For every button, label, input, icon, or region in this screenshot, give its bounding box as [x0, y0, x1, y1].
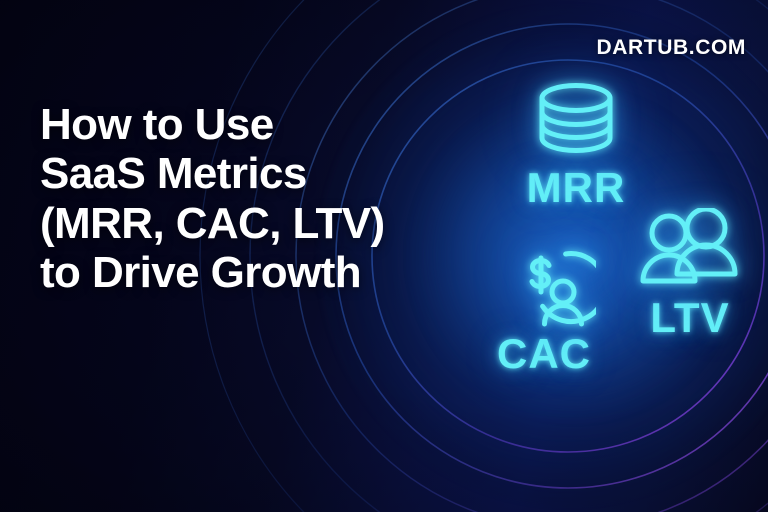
site-logo: DARTUB.COM: [597, 36, 746, 60]
poster-canvas: DARTUB.COM How to Use SaaS Metrics (MRR,…: [0, 0, 768, 512]
metric-ltv: LTV: [614, 208, 766, 339]
title-line-2: SaaS Metrics: [40, 149, 430, 198]
title-line-4: to Drive Growth: [40, 248, 430, 297]
title-line-1: How to Use: [40, 100, 430, 149]
title-line-3: (MRR, CAC, LTV): [40, 199, 430, 248]
metric-ltv-label: LTV: [614, 297, 766, 339]
metric-cac-label: CAC: [466, 333, 622, 375]
metric-mrr-label: MRR: [496, 167, 656, 209]
metric-cac: CAC: [466, 234, 622, 375]
database-stack-icon: [526, 82, 626, 160]
metric-mrr: MRR: [496, 82, 656, 209]
page-title: How to Use SaaS Metrics (MRR, CAC, LTV) …: [40, 100, 430, 297]
two-people-icon: [636, 208, 744, 292]
dollar-circle-person-icon: [492, 234, 596, 328]
